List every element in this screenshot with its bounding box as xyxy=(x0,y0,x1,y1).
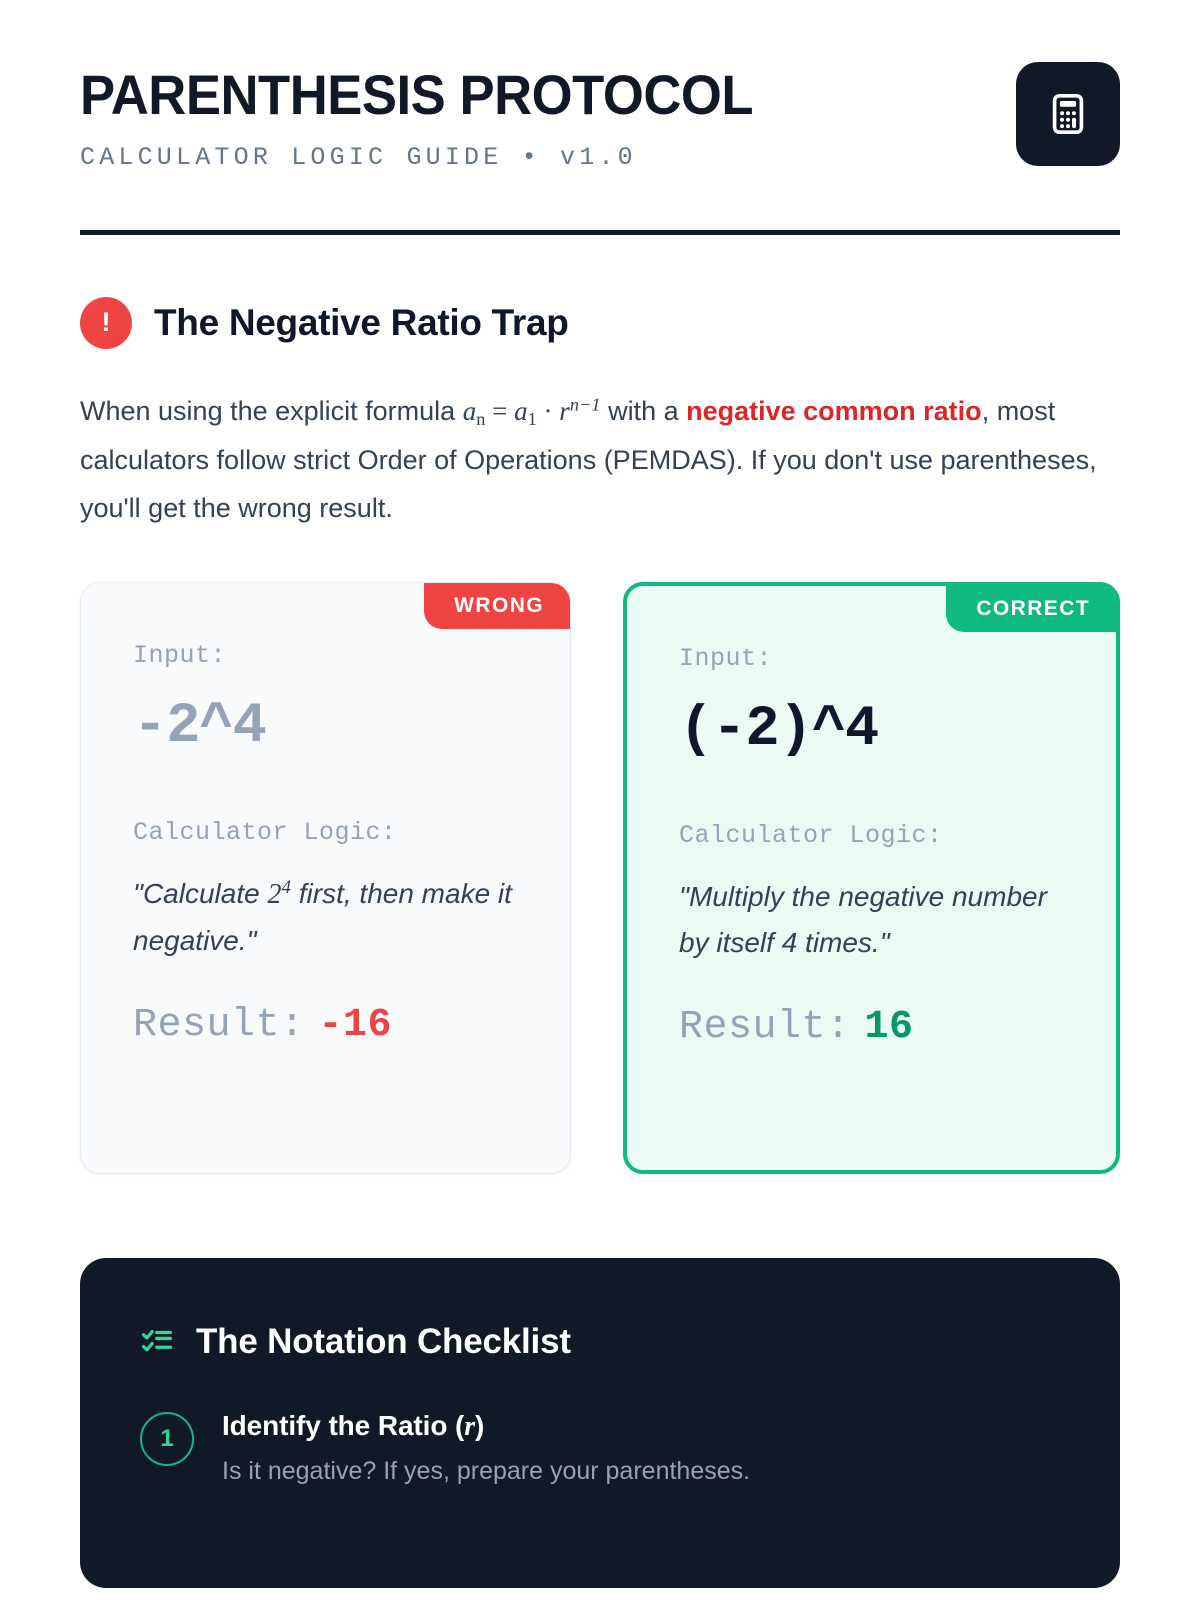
checklist-title: The Notation Checklist xyxy=(196,1322,571,1362)
list-item-title: Identify the Ratio (r) xyxy=(222,1410,750,1443)
logic-label-correct: Calculator Logic: xyxy=(679,821,1064,850)
input-label-correct: Input: xyxy=(679,644,1064,673)
notation-checklist-panel: The Notation Checklist 1 Identify the Ra… xyxy=(80,1258,1120,1588)
list-item: 1 Identify the Ratio (r) Is it negative?… xyxy=(140,1410,1060,1489)
checklist-icon xyxy=(140,1322,174,1361)
result-line-correct: Result:16 xyxy=(679,1005,1064,1050)
intro-highlight: negative common ratio xyxy=(686,396,982,426)
calculator-icon xyxy=(1045,91,1091,137)
logic-label-wrong: Calculator Logic: xyxy=(133,818,518,847)
list-item-description: Is it negative? If yes, prepare your par… xyxy=(222,1453,750,1489)
correct-example-card: CORRECT Input: (-2)^4 Calculator Logic: … xyxy=(623,582,1120,1174)
explicit-formula: an = a1 · rn−1 xyxy=(463,396,601,426)
exclamation-icon: ! xyxy=(80,297,132,349)
input-expression-wrong: -2^4 xyxy=(133,696,518,759)
document-page: PARENTHESIS PROTOCOL CALCULATOR LOGIC GU… xyxy=(0,0,1200,1600)
input-label-wrong: Input: xyxy=(133,641,518,670)
quote-text-before: "Calculate xyxy=(133,878,267,909)
comparison-cards: WRONG Input: -2^4 Calculator Logic: "Cal… xyxy=(80,582,1120,1174)
intro-paragraph: When using the explicit formula an = a1 … xyxy=(80,387,1120,532)
result-line-wrong: Result:-16 xyxy=(133,1003,518,1048)
header-divider xyxy=(80,230,1120,235)
input-expression-correct: (-2)^4 xyxy=(679,699,1064,762)
alert-heading-row: ! The Negative Ratio Trap xyxy=(80,297,1120,349)
alert-title: The Negative Ratio Trap xyxy=(154,302,569,344)
wrong-example-card: WRONG Input: -2^4 Calculator Logic: "Cal… xyxy=(80,582,571,1174)
step-number-badge: 1 xyxy=(140,1412,194,1466)
checklist-items: 1 Identify the Ratio (r) Is it negative?… xyxy=(140,1410,1060,1489)
quote-math-expression: 24 xyxy=(267,879,291,910)
result-label-wrong: Result: xyxy=(133,1003,305,1048)
list-item-title-after: ) xyxy=(475,1410,484,1441)
result-value-correct: 16 xyxy=(865,1005,914,1050)
logic-quote-wrong: "Calculate 24 first, then make it negati… xyxy=(133,871,518,963)
result-value-wrong: -16 xyxy=(319,1003,393,1048)
calculator-logo-tile xyxy=(1016,62,1120,166)
list-item-body: Identify the Ratio (r) Is it negative? I… xyxy=(222,1410,750,1489)
result-label-correct: Result: xyxy=(679,1005,851,1050)
logic-quote-correct: "Multiply the negative number by itself … xyxy=(679,874,1064,965)
intro-text-part-1: When using the explicit formula xyxy=(80,396,463,426)
status-badge-wrong: WRONG xyxy=(424,583,570,629)
header-text-block: PARENTHESIS PROTOCOL CALCULATOR LOGIC GU… xyxy=(80,62,796,172)
page-subtitle: CALCULATOR LOGIC GUIDE • v1.0 xyxy=(80,143,796,172)
checklist-header: The Notation Checklist xyxy=(140,1322,1060,1362)
page-title: PARENTHESIS PROTOCOL xyxy=(80,66,753,125)
status-badge-correct: CORRECT xyxy=(946,586,1116,632)
list-item-title-before: Identify the Ratio ( xyxy=(222,1410,464,1441)
list-item-title-math: r xyxy=(464,1411,475,1442)
document-header: PARENTHESIS PROTOCOL CALCULATOR LOGIC GU… xyxy=(80,62,1120,172)
intro-text-part-2: with a xyxy=(601,396,687,426)
